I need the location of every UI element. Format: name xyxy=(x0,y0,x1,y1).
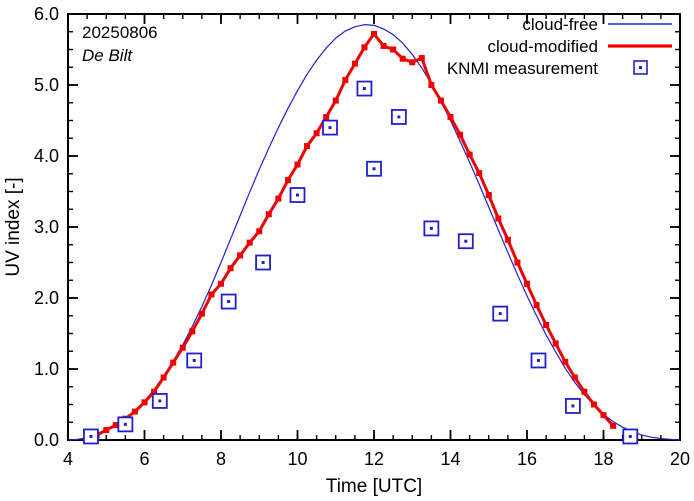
marker-dot xyxy=(430,227,433,230)
cloud-modified-marker xyxy=(361,44,367,50)
x-tick-label: 8 xyxy=(216,449,226,469)
knmi-measurement-marker xyxy=(566,399,580,413)
cloud-modified-marker xyxy=(400,56,406,62)
cloud-modified-marker xyxy=(467,152,473,158)
cloud-modified-marker xyxy=(534,302,540,308)
cloud-modified-marker xyxy=(199,311,205,317)
legend-label-cloud-free: cloud-free xyxy=(522,15,598,34)
x-tick-label: 18 xyxy=(593,449,613,469)
cloud-modified-marker xyxy=(304,143,310,149)
knmi-measurement-marker xyxy=(222,295,236,309)
x-axis-title: Time [UTC] xyxy=(326,476,422,497)
knmi-measurement-marker xyxy=(424,221,438,235)
y-tick-label: 4.0 xyxy=(34,146,59,166)
legend-label-cloud-modified: cloud-modified xyxy=(487,37,598,56)
cloud-modified-marker xyxy=(428,82,434,88)
cloud-modified-marker xyxy=(275,196,281,202)
cloud-modified-marker xyxy=(256,228,262,234)
cloud-modified-marker xyxy=(189,328,195,334)
cloud-modified-marker xyxy=(285,177,291,183)
marker-dot xyxy=(537,359,540,362)
marker-dot xyxy=(363,87,366,90)
cloud-modified-marker xyxy=(448,114,454,120)
knmi-measurement-marker xyxy=(623,429,637,443)
knmi-measurement-marker xyxy=(118,417,132,431)
x-tick-label: 4 xyxy=(63,449,73,469)
marker-dot xyxy=(124,423,127,426)
x-tick-label: 20 xyxy=(670,449,690,469)
x-tick-label: 6 xyxy=(139,449,149,469)
knmi-measurement-marker xyxy=(84,429,98,443)
knmi-measurement-marker xyxy=(291,188,305,202)
cloud-modified-marker xyxy=(381,43,387,49)
cloud-modified-marker xyxy=(266,211,272,217)
knmi-measurement-marker xyxy=(459,234,473,248)
cloud-modified-marker xyxy=(342,77,348,83)
cloud-modified-marker xyxy=(601,412,607,418)
knmi-measurement-marker xyxy=(323,121,337,135)
marker-dot xyxy=(571,404,574,407)
y-tick-label: 3.0 xyxy=(34,217,59,237)
cloud-modified-marker xyxy=(524,281,530,287)
cloud-modified-marker xyxy=(208,291,214,297)
cloud-modified-marker xyxy=(409,59,415,65)
marker-dot xyxy=(629,435,632,438)
cloud-modified-marker xyxy=(132,409,138,415)
y-tick-label: 1.0 xyxy=(34,359,59,379)
legend-label-knmi-measurement: KNMI measurement xyxy=(447,59,598,78)
uv-index-chart-figure: 468101214161820 0.01.02.03.04.05.06.0 Ti… xyxy=(0,0,694,501)
knmi-measurement-marker xyxy=(392,110,406,124)
cloud-modified-marker xyxy=(218,281,224,287)
cloud-modified-marker xyxy=(610,423,616,429)
knmi-measurement-marker xyxy=(531,353,545,367)
cloud-modified-marker xyxy=(505,237,511,243)
marker-dot xyxy=(158,399,161,402)
cloud-modified-marker xyxy=(161,375,167,381)
cloud-modified-marker xyxy=(419,55,425,61)
marker-dot xyxy=(296,194,299,197)
x-tick-label: 16 xyxy=(517,449,537,469)
cloud-modified-marker xyxy=(103,427,109,433)
cloud-modified-marker xyxy=(438,98,444,104)
chart-canvas: 468101214161820 0.01.02.03.04.05.06.0 Ti… xyxy=(0,0,694,501)
marker-dot xyxy=(464,240,467,243)
knmi-measurement-marker xyxy=(357,82,371,96)
cloud-modified-marker xyxy=(228,265,234,271)
cloud-modified-marker xyxy=(514,260,520,266)
cloud-modified-marker xyxy=(562,359,568,365)
y-tick-label: 0.0 xyxy=(34,430,59,450)
marker-dot xyxy=(397,115,400,118)
knmi-measurement-marker xyxy=(187,353,201,367)
cloud-modified-marker xyxy=(390,47,396,53)
cloud-modified-marker xyxy=(247,240,253,246)
cloud-modified-marker xyxy=(457,132,463,138)
knmi-measurement-marker xyxy=(493,307,507,321)
knmi-measurement-marker xyxy=(256,256,270,270)
cloud-modified-marker xyxy=(180,345,186,351)
cloud-modified-marker xyxy=(476,170,482,176)
cloud-modified-marker xyxy=(142,399,148,405)
y-axis-title: UV index [-] xyxy=(3,177,24,276)
cloud-modified-marker xyxy=(371,31,377,37)
cloud-modified-marker xyxy=(591,402,597,408)
marker-dot xyxy=(193,359,196,362)
marker-dot xyxy=(499,312,502,315)
x-tick-label: 14 xyxy=(440,449,460,469)
cloud-modified-marker xyxy=(323,114,329,120)
marker-dot xyxy=(373,167,376,170)
cloud-modified-marker xyxy=(486,192,492,198)
cloud-modified-marker xyxy=(295,162,301,168)
knmi-measurement-marker xyxy=(367,162,381,176)
y-tick-label: 6.0 xyxy=(34,4,59,24)
cloud-modified-marker xyxy=(170,360,176,366)
date-annotation: 20250806 xyxy=(82,23,158,42)
y-tick-label: 2.0 xyxy=(34,288,59,308)
marker-dot xyxy=(262,261,265,264)
marker-dot xyxy=(329,126,332,129)
x-tick-label: 12 xyxy=(364,449,384,469)
cloud-modified-marker xyxy=(352,61,358,67)
knmi-measurement-marker xyxy=(153,394,167,408)
cloud-modified-marker xyxy=(553,340,559,346)
cloud-modified-marker xyxy=(572,375,578,381)
cloud-modified-marker xyxy=(237,252,243,258)
cloud-modified-marker xyxy=(495,215,501,221)
cloud-modified-marker xyxy=(543,322,549,328)
y-tick-label: 5.0 xyxy=(34,75,59,95)
cloud-modified-marker xyxy=(314,130,320,136)
marker-dot xyxy=(89,435,92,438)
marker-dot xyxy=(227,300,230,303)
cloud-modified-marker xyxy=(581,389,587,395)
cloud-modified-marker xyxy=(333,98,339,104)
station-annotation: De Bilt xyxy=(82,46,133,65)
x-tick-label: 10 xyxy=(287,449,307,469)
